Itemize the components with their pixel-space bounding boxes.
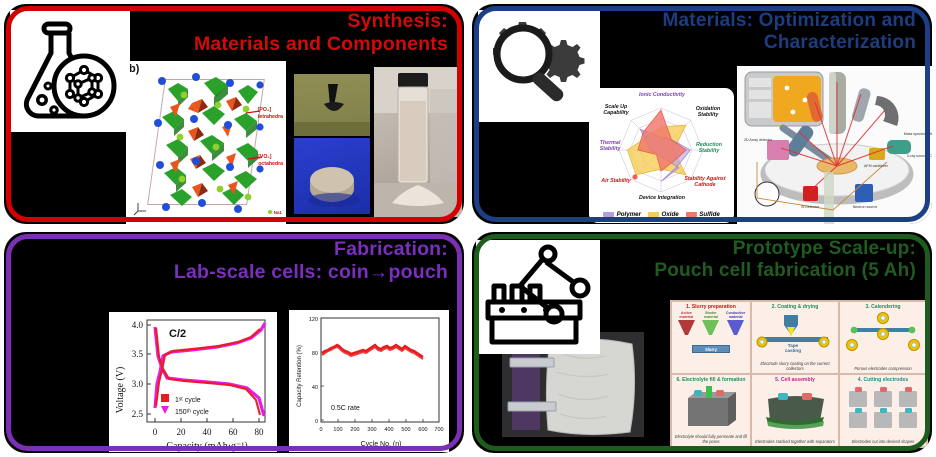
svg-text:700: 700: [434, 427, 443, 433]
svg-text:1ˢᵗ cycle: 1ˢᵗ cycle: [175, 397, 201, 404]
svg-text:Cycle No. (n): Cycle No. (n): [361, 441, 402, 448]
step-coating-caption: Electrode slurry coating on the current …: [754, 361, 836, 371]
magnifier-gears-icon: [478, 10, 600, 122]
svg-text:150ᵗʰ cycle: 150ᵗʰ cycle: [175, 409, 209, 416]
pellet-photo: [294, 138, 370, 214]
svg-text:600: 600: [418, 427, 427, 433]
svg-text:0.5C rate: 0.5C rate: [331, 405, 360, 412]
panel-prototype-title: Prototype Scale-up: Pouch cell fabricati…: [654, 238, 916, 283]
step-coating-drying: 2. Coating & drying Tapecasting Elect: [751, 301, 839, 374]
svg-text:3.5: 3.5: [132, 349, 144, 359]
legend-swatch-sulfide: [686, 212, 697, 217]
annotation-vo6-octahedra: [VO₆] octahedra: [258, 154, 283, 167]
svg-text:60: 60: [229, 427, 239, 437]
funnel-conductive-material: Conductive material: [726, 311, 746, 340]
crystal-legend: Na1 Na2: [268, 208, 282, 221]
svg-text:40: 40: [312, 385, 318, 391]
graphical-abstract-grid: Synthesis: Materials and Components: [0, 0, 936, 457]
step-cell-assembly: 5. Cell assembly Electrodes stacked toge…: [751, 374, 839, 447]
svg-text:Tapecasting: Tapecasting: [785, 343, 801, 353]
step-assembly-caption: Electrodes stacked together with separat…: [754, 439, 836, 444]
radar-axis-reduction-stability: Reduction Stability: [687, 142, 731, 155]
annotation-po4-tetrahedra: [PO₄] tetrahedra: [258, 107, 283, 120]
panel-synthesis-title: Synthesis: Materials and Components: [194, 10, 448, 56]
step-slurry-preparation: 1. Slurry preparation Active material Bi…: [671, 301, 751, 374]
step-cutting-caption: Electrodes cut into desired shapes: [842, 439, 924, 444]
svg-text:Capacity (mAh·g⁻¹): Capacity (mAh·g⁻¹): [166, 441, 247, 452]
capacity-retention-plot: 120 80 40 0 0 100 200 300 400 500 600 70…: [289, 310, 449, 452]
legend-swatch-na2: [268, 217, 272, 221]
legend-swatch-polymer: [603, 212, 614, 217]
panel-materials-title: Materials: Optimization and Characteriza…: [663, 10, 917, 55]
svg-text:C/2: C/2: [169, 328, 186, 340]
svg-text:Voltage (V): Voltage (V): [115, 367, 126, 414]
svg-text:200: 200: [350, 427, 359, 433]
radar-axis-device-integration: Device Integration: [623, 195, 701, 201]
step-calendering-caption: Porous electrodes compression: [842, 366, 924, 371]
svg-text:Capacity Retention (%): Capacity Retention (%): [297, 345, 303, 407]
svg-text:500: 500: [401, 427, 410, 433]
svg-text:0: 0: [315, 419, 318, 425]
instrument-label-afm-cantilever: AFM cantilever: [861, 164, 891, 168]
tip-photo: [294, 74, 370, 136]
svg-text:120: 120: [309, 317, 318, 323]
panel-synthesis: Synthesis: Materials and Components: [0, 0, 468, 228]
instrument-label-xray-source-ct: X-ray source (CT): [905, 154, 932, 158]
step-cutting-electrodes: 4. Cutting electrodes: [839, 374, 927, 447]
svg-text:4.0: 4.0: [132, 320, 144, 330]
legend-swatch-na1: [268, 210, 272, 214]
legend-swatch-oxide: [648, 212, 659, 217]
radar-legend: Polymer Oxide Sulfide: [589, 211, 734, 218]
crystal-structure-figure: b): [126, 61, 286, 224]
characterization-schematic: 2D Array detector Mass spectrometer X-ra…: [737, 66, 932, 224]
funnel-binder-material: Binder material: [701, 311, 721, 340]
svg-text:300: 300: [367, 427, 376, 433]
svg-text:0: 0: [319, 427, 322, 433]
panel-prototype: Prototype Scale-up: Pouch cell fabricati…: [468, 228, 936, 457]
step-electrolyte-caption: Electrolyte should fully permeate and fi…: [674, 434, 748, 444]
panel-materials: Materials: Optimization and Characteriza…: [468, 0, 936, 228]
step-calendering: 3. Calendering Porous electrodes compr: [839, 301, 927, 374]
instrument-label-neutron-source: Neutron source: [849, 205, 881, 209]
slurry-output-box: Slurry: [692, 345, 730, 353]
radar-legend-item-polymer: Polymer: [603, 211, 641, 218]
svg-text:20: 20: [177, 427, 187, 437]
svg-text:100: 100: [333, 427, 342, 433]
svg-text:400: 400: [384, 427, 393, 433]
funnel-active-material: Active material: [676, 311, 696, 340]
radar-legend-item-oxide: Oxide: [648, 211, 679, 218]
radar-axis-ionic-conductivity: Ionic Conductivity: [627, 92, 697, 98]
svg-text:3.0: 3.0: [132, 379, 144, 389]
radar-axis-thermal-stability: Thermal Stability: [589, 140, 631, 153]
voltage-capacity-plot: 4.0 3.5 3.0 2.5 0 20 40 60 80 Volta: [109, 312, 277, 452]
instrument-label-si-detector: Si Detector: [795, 205, 825, 209]
svg-text:40: 40: [203, 427, 213, 437]
panel-fabrication: Fabrication: Lab-scale cells: coin→pouch…: [0, 228, 468, 457]
svg-text:80: 80: [312, 351, 318, 357]
radar-axis-air-stability: Air Stability: [591, 178, 641, 184]
svg-text:0: 0: [153, 427, 158, 437]
robot-arm-conveyor-icon: [476, 240, 600, 354]
instrument-label-mass-spectrometer: Mass spectrometer: [903, 132, 932, 136]
step-electrolyte-fill-formation: 6. Electrolyte fill & formation Electrol…: [671, 374, 751, 447]
radar-legend-item-sulfide: Sulfide: [686, 211, 720, 218]
property-radar-chart: Ionic Conductivity Oxidation Stability R…: [589, 88, 734, 223]
svg-text:80: 80: [255, 427, 265, 437]
crystal-panel-label: b): [129, 63, 139, 75]
radar-axis-stability-against-cathode: Stability Against Cathode: [677, 176, 733, 189]
radar-axis-oxidation-stability: Oxidation Stability: [685, 106, 731, 119]
powder-vial-photo: [374, 67, 462, 217]
instrument-label-2d-array-detector: 2D Array detector: [743, 138, 773, 142]
pouch-fabrication-steps: 1. Slurry preparation Active material Bi…: [670, 300, 928, 448]
flask-molecule-icon: [10, 10, 130, 132]
svg-text:2.5: 2.5: [132, 409, 144, 419]
panel-fabrication-title: Fabrication: Lab-scale cells: coin→pouch: [174, 238, 448, 284]
